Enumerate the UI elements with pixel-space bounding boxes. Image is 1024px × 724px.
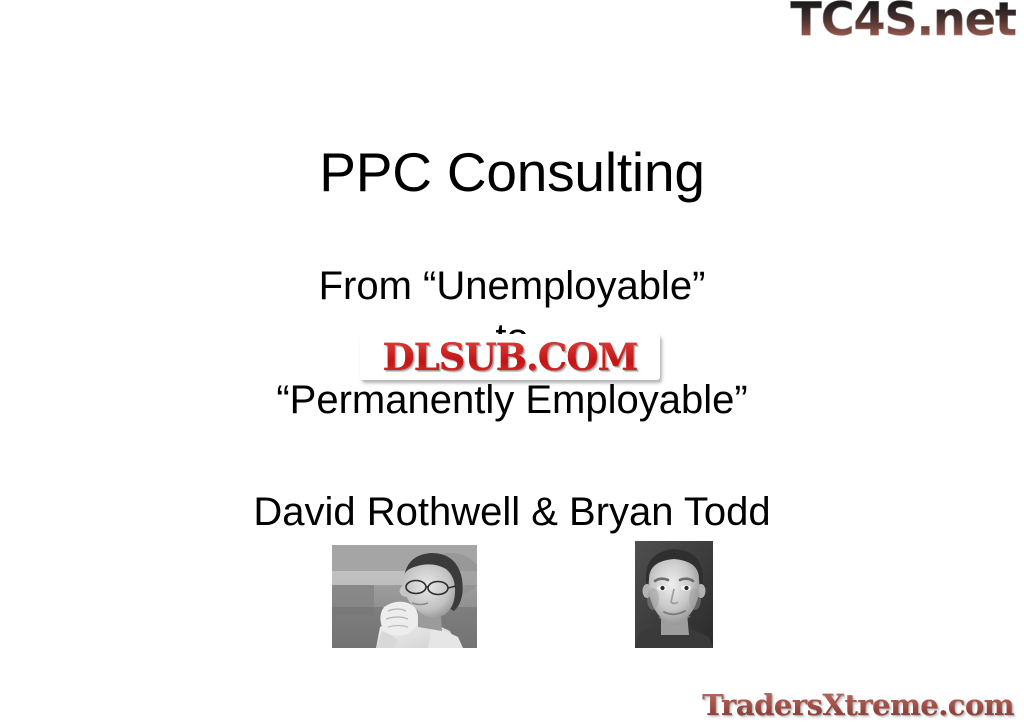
watermark-dlsub-text: DLSUB.COM [360, 334, 660, 380]
authors-line: David Rothwell & Bryan Todd [0, 490, 1024, 535]
photo-david-rothwell [332, 545, 477, 648]
photo-david-rothwell-image [332, 545, 477, 648]
watermark-tradersxtreme-com: TradersXtreme.com TradersXtreme.com [702, 691, 1014, 720]
photo-bryan-todd [635, 541, 713, 648]
slide-title: PPC Consulting [0, 140, 1024, 204]
subtitle-line-permanently-employable: “Permanently Employable” [0, 378, 1024, 423]
watermark-tc4s-net: TC4S.net [790, 0, 1016, 42]
subtitle-line-from: From “Unemployable” [0, 264, 1024, 309]
presentation-slide: TC4S.net PPC Consulting From “Unemployab… [0, 0, 1024, 724]
watermark-dlsub-com: DLSUB.COM DLSUB.COM [360, 334, 660, 380]
photo-bryan-todd-image [635, 541, 713, 648]
watermark-tradersxtreme-text: TradersXtreme.com [702, 691, 1014, 720]
